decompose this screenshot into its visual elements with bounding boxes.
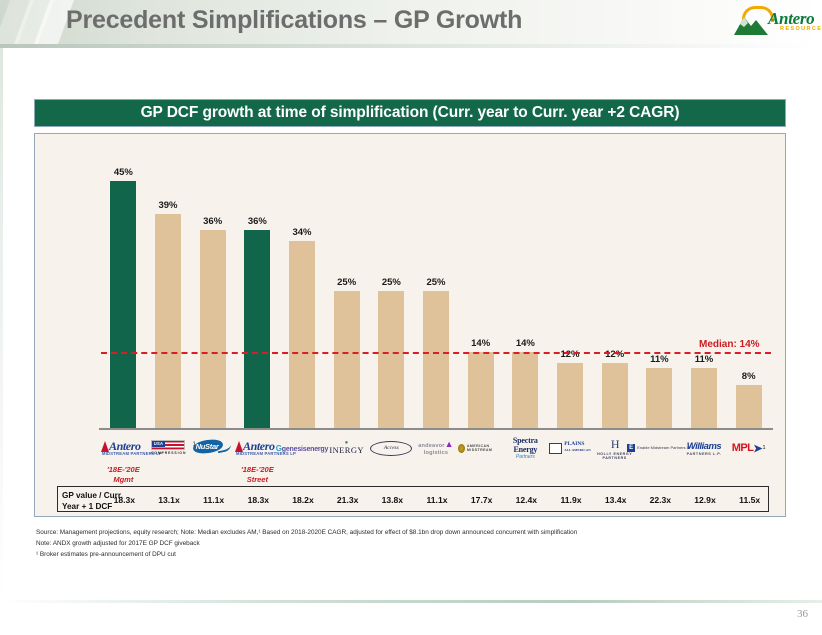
- bar-3[interactable]: [244, 230, 270, 429]
- spectra-energy-partners-logo: Spectra EnergyPartners: [503, 436, 548, 460]
- flag-icon: USA: [151, 440, 185, 450]
- footnote-3: ¹ Broker estimates pre-announcement of D…: [36, 549, 736, 560]
- genesis-energy-logo: Ggenesisenergy: [276, 444, 328, 453]
- bar-8[interactable]: [468, 352, 494, 429]
- bar-10[interactable]: [557, 363, 583, 429]
- antero-resources-logo: Antero RESOURCES: [730, 6, 814, 38]
- bar-value-label: 25%: [411, 277, 461, 288]
- bar-value-label: 25%: [322, 277, 372, 288]
- bar-13[interactable]: [691, 368, 717, 429]
- bar-value-label: 11%: [634, 354, 684, 365]
- logo-cell: AnteroMIDSTREAM PARTNERS LP: [235, 434, 280, 462]
- table-cell: 13.8x: [370, 495, 415, 505]
- logo-wordmark: Access: [384, 445, 399, 451]
- usa-compression-logo: USACOMPRESSION: [151, 440, 185, 456]
- page-title: Precedent Simplifications – GP Growth: [66, 6, 522, 35]
- footnote-2: Note: ANDX growth adjusted for 2017E GP …: [36, 538, 736, 549]
- logo-cell: PLAINSALL AMERICAN: [548, 434, 593, 462]
- logo-cell: USACOMPRESSION: [146, 434, 191, 462]
- bar-2[interactable]: [200, 230, 226, 429]
- plains-box-icon: [549, 443, 562, 454]
- table-cell: 11.1x: [415, 495, 460, 505]
- bar-value-label: 8%: [724, 371, 774, 382]
- bar-slot: 25%: [334, 153, 360, 429]
- bar-slot: 14%: [468, 153, 494, 429]
- company-logo-strip: AnteroMIDSTREAM PARTNERS LPUSACOMPRESSIO…: [101, 434, 771, 466]
- logo-cell: MPL➤1: [726, 434, 771, 462]
- bar-slot: 8%: [736, 153, 762, 429]
- bar-slot: 14%: [512, 153, 538, 429]
- footnote-marker: 1: [762, 445, 765, 451]
- logo-cell: andeavor▲logistics: [414, 434, 459, 462]
- x-axis-line: [99, 428, 773, 430]
- bar-5[interactable]: [334, 291, 360, 429]
- inergy-logo: ●INERGY: [329, 441, 364, 455]
- footnotes: Source: Management projections, equity r…: [36, 527, 736, 561]
- caption-line-1: '18E-'20E: [241, 465, 274, 474]
- logo-wordmark: andeavor▲logistics: [418, 439, 454, 457]
- logo-cell: Access: [369, 434, 414, 462]
- bar-value-label: 39%: [143, 200, 193, 211]
- table-cell: 11.1x: [191, 495, 236, 505]
- mountain-icon: [734, 13, 768, 35]
- access-oval-icon: Access: [370, 441, 412, 456]
- bar-slot: 25%: [378, 153, 404, 429]
- logo-subtitle: Partners: [503, 454, 548, 460]
- table-cell: 12.4x: [504, 495, 549, 505]
- williams-logo: WilliamsPARTNERS L.P.: [687, 441, 722, 456]
- american-midstream-logo: AMERICAN MIDSTREAM: [458, 444, 503, 453]
- logo-wordmark: PLAINSALL AMERICAN: [564, 442, 590, 454]
- table-cell: 11.9x: [549, 495, 594, 505]
- bar-value-label: 12%: [590, 349, 640, 360]
- logo-wordmark: Spectra Energy: [503, 436, 548, 454]
- bar-value-label: 36%: [232, 216, 282, 227]
- bar-plot-area: 45%39%36%36%34%25%25%25%14%14%12%12%11%1…: [101, 153, 771, 429]
- bar-1[interactable]: [155, 214, 181, 429]
- logo-wordmark: MPL: [732, 442, 753, 454]
- bar-slot: 12%: [602, 153, 628, 429]
- american-seal-icon: [458, 444, 465, 453]
- table-cell: 13.1x: [147, 495, 192, 505]
- table-cell: 18.3x: [236, 495, 281, 505]
- nustar-logo: NuStar1: [193, 439, 233, 457]
- logo-cell: Spectra EnergyPartners: [503, 434, 548, 462]
- median-line: [101, 352, 771, 354]
- antero-midstream-logo: AnteroMIDSTREAM PARTNERS LP: [101, 439, 146, 457]
- bar-9[interactable]: [512, 352, 538, 429]
- header-divider: [0, 44, 822, 48]
- plains-logo: PLAINSALL AMERICAN: [549, 442, 590, 454]
- caption-street: '18E-'20EStreet: [229, 465, 286, 485]
- chart-title-bar: GP DCF growth at time of simplification …: [34, 99, 786, 127]
- bar-12[interactable]: [646, 368, 672, 429]
- genesis-g-icon: G: [276, 444, 282, 453]
- bar-value-label: 34%: [277, 227, 327, 238]
- caption-line-1: '18E-'20E: [107, 465, 140, 474]
- antero-midstream-logo-street: AnteroMIDSTREAM PARTNERS LP: [235, 439, 280, 457]
- table-cell: 21.3x: [325, 495, 370, 505]
- inergy-dot-icon: ●: [329, 441, 364, 445]
- bar-value-label: 45%: [98, 167, 148, 178]
- bar-7[interactable]: [423, 291, 449, 429]
- andeavor-mark-icon: ▲: [445, 439, 454, 449]
- table-cell: 18.2x: [281, 495, 326, 505]
- page-number: 36: [797, 608, 808, 620]
- logo-wordmark: ●INERGY: [329, 441, 364, 455]
- median-label: Median: 14%: [699, 339, 760, 350]
- bar-value-label: 11%: [679, 354, 729, 365]
- bar-slot: 25%: [423, 153, 449, 429]
- bar-value-label: 36%: [188, 216, 238, 227]
- table-cell: 12.9x: [683, 495, 728, 505]
- logo-wordmark: Ggenesisenergy: [276, 444, 328, 453]
- caption-mgmt: '18E-'20EMgmt: [95, 465, 152, 485]
- logo-wordmark: AMERICAN MIDSTREAM: [467, 444, 503, 452]
- swoosh-icon: [216, 441, 232, 454]
- footnote-1: Source: Management projections, equity r…: [36, 527, 736, 538]
- logo-wordmark: Williams: [687, 441, 722, 452]
- logo-subtitle: HOLLY ENERGY PARTNERS: [592, 452, 637, 460]
- flag-canton: USA: [152, 441, 165, 447]
- bar-14[interactable]: [736, 385, 762, 429]
- bar-11[interactable]: [602, 363, 628, 429]
- bar-6[interactable]: [378, 291, 404, 429]
- footer-divider: [0, 600, 822, 603]
- mplx-arrow-icon: ➤: [753, 442, 762, 455]
- bar-slot: 45%: [110, 153, 136, 429]
- bar-slot: 36%: [244, 153, 270, 429]
- bar-value-label: 25%: [366, 277, 416, 288]
- logo-cell: NuStar1: [190, 434, 235, 462]
- caption-line-2: Mgmt: [113, 475, 133, 484]
- logo-subtitle: RESOURCES: [780, 26, 822, 32]
- bar-4[interactable]: [289, 241, 315, 429]
- slide-header: Precedent Simplifications – GP Growth: [0, 0, 822, 44]
- logo-cell: AMERICAN MIDSTREAM: [458, 434, 503, 462]
- logo-cell: ●INERGY: [324, 434, 369, 462]
- table-cell: 17.7x: [459, 495, 504, 505]
- bar-value-label: 14%: [456, 338, 506, 349]
- table-cell: 18.3x: [102, 495, 147, 505]
- bar-value-label: 14%: [500, 338, 550, 349]
- bar-slot: 39%: [155, 153, 181, 429]
- gp-value-table: GP value / Curr. Year + 1 DCF 18.3x13.1x…: [57, 486, 769, 512]
- table-cell: 22.3x: [638, 495, 683, 505]
- logo-cell: AnteroMIDSTREAM PARTNERS LP: [101, 434, 146, 462]
- mplx-logo: MPL➤1: [732, 442, 766, 455]
- chart-panel: 45%39%36%36%34%25%25%25%14%14%12%12%11%1…: [34, 133, 786, 517]
- logo-cell: WilliamsPARTNERS L.P.: [682, 434, 727, 462]
- bar-slot: 34%: [289, 153, 315, 429]
- access-midstream-logo: Access: [370, 441, 412, 456]
- logo-cell: Ggenesisenergy: [280, 434, 325, 462]
- andeavor-logistics-logo: andeavor▲logistics: [418, 439, 454, 457]
- caption-line-2: Street: [247, 475, 268, 484]
- chart-title: GP DCF growth at time of simplification …: [141, 104, 680, 122]
- logo-subtitle: PARTNERS L.P.: [687, 452, 722, 456]
- bar-slot: 36%: [200, 153, 226, 429]
- header-chevrons: [0, 0, 70, 44]
- logo-subtitle: COMPRESSION: [151, 451, 185, 455]
- table-cell: 13.4x: [593, 495, 638, 505]
- bar-0[interactable]: [110, 181, 136, 429]
- enable-e-icon: E: [627, 444, 635, 452]
- bar-value-label: 12%: [545, 349, 595, 360]
- bar-slot: 11%: [691, 153, 717, 429]
- left-edge-accent: [0, 48, 3, 600]
- bar-slot: 11%: [646, 153, 672, 429]
- table-cell: 11.5x: [727, 495, 772, 505]
- logo-cell: EEnable Midstream Partners LP: [637, 434, 682, 462]
- bar-slot: 12%: [557, 153, 583, 429]
- logo-wordmark: NuStar: [196, 442, 219, 451]
